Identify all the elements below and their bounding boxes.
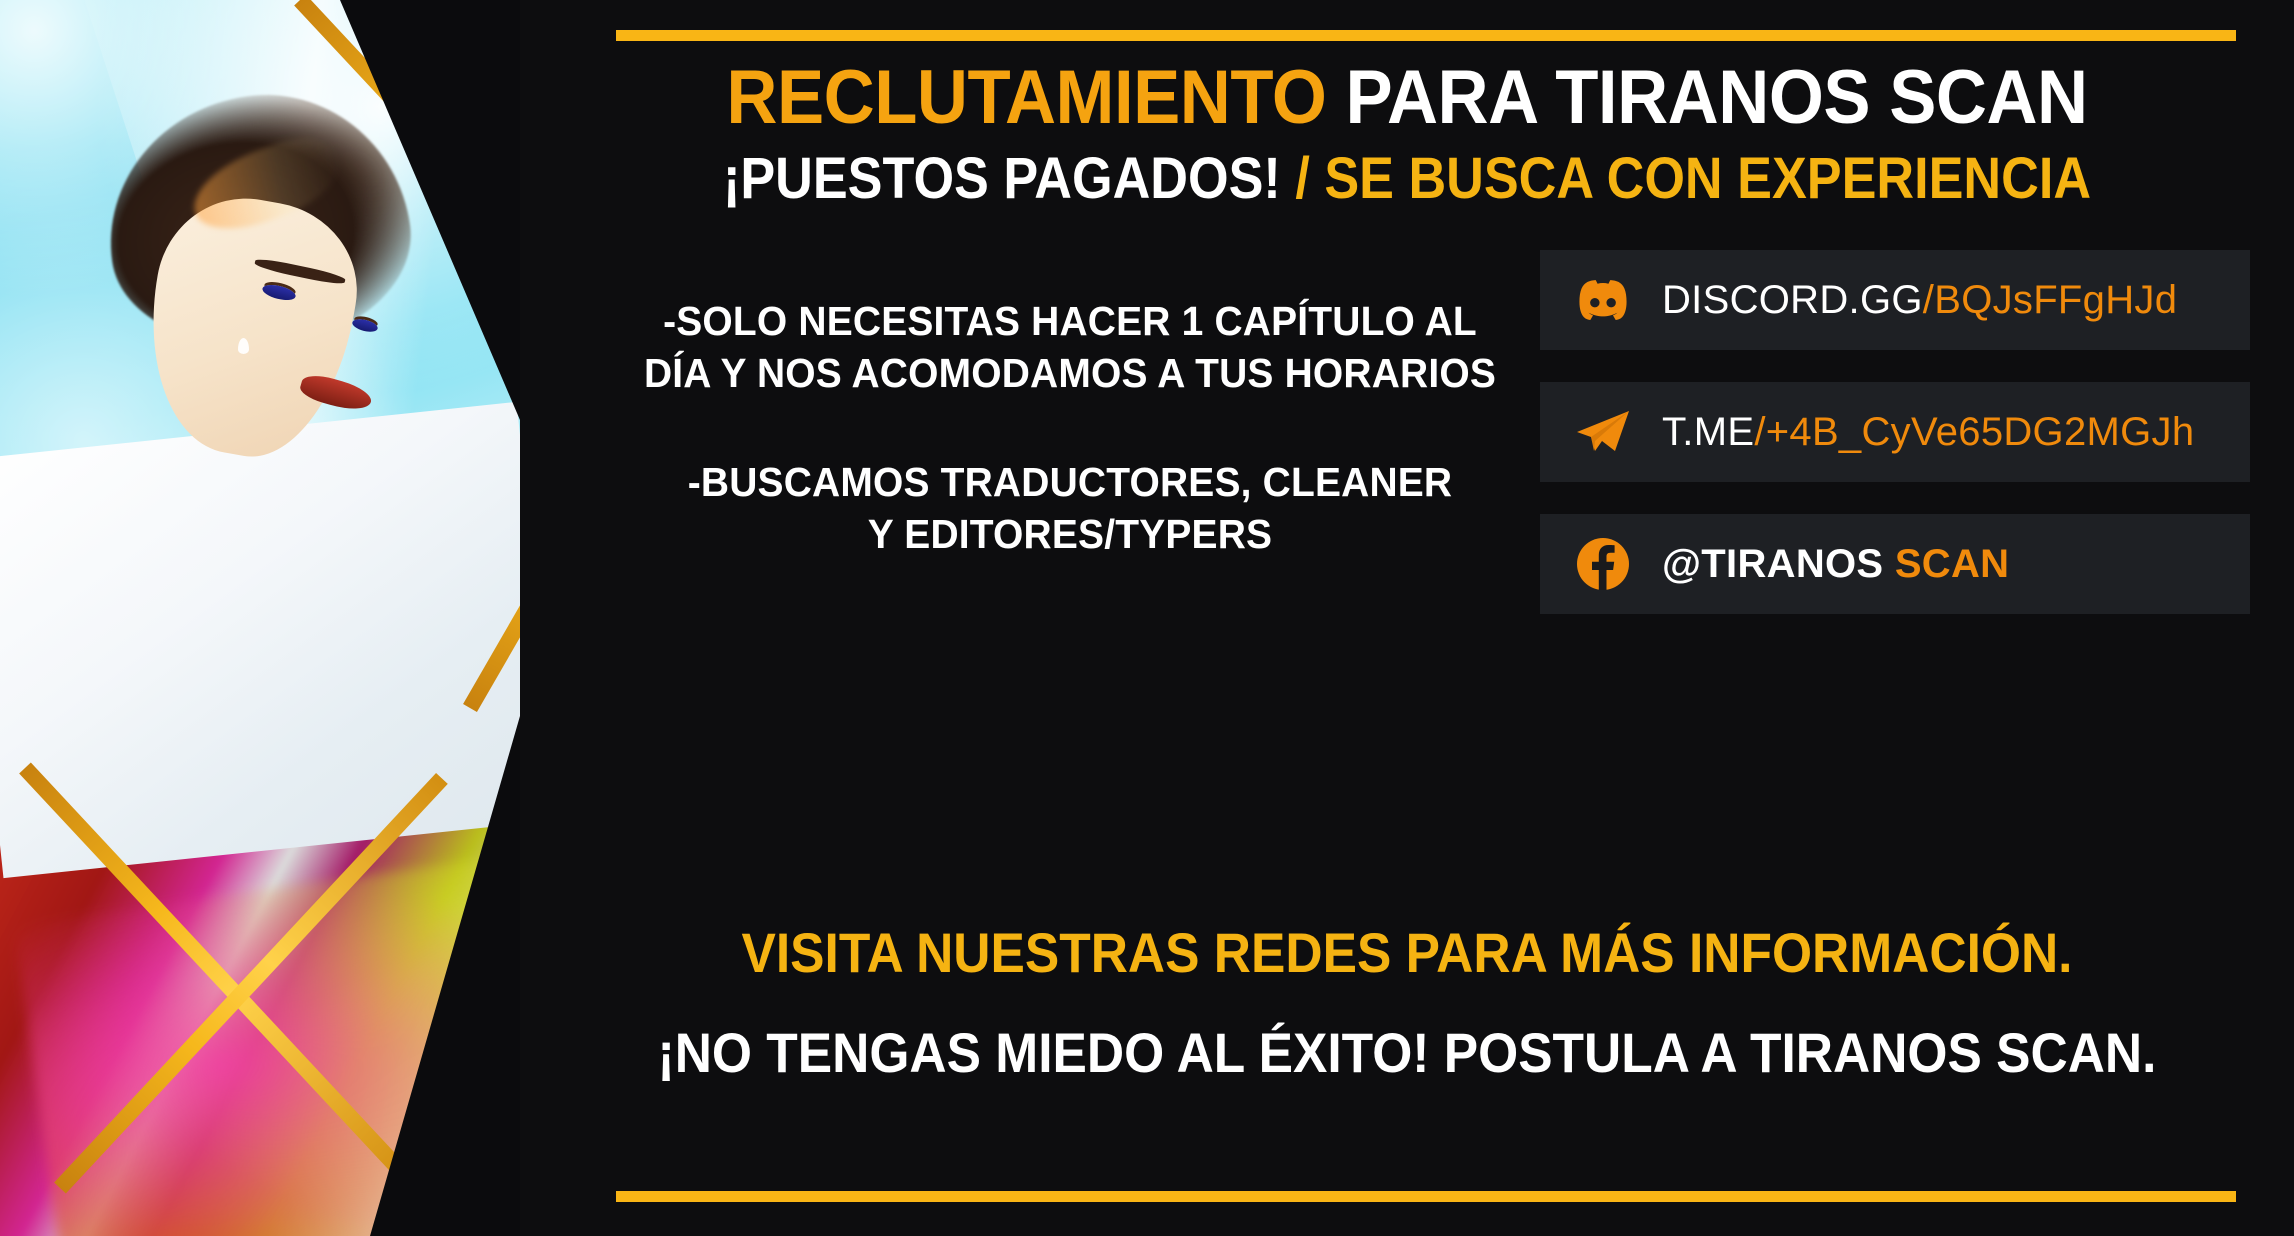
bullet-line: DÍA Y NOS ACOMODAMOS A TUS HORARIOS xyxy=(567,347,1574,399)
list-item: -SOLO NECESITAS HACER 1 CAPÍTULO AL DÍA … xyxy=(567,295,1574,400)
bullet-line: -SOLO NECESITAS HACER 1 CAPÍTULO AL xyxy=(567,295,1574,347)
contact-label: DISCORD.GG/BQJsFFgHJd xyxy=(1662,278,2177,323)
headline-rest: PARA TIRANOS SCAN xyxy=(1326,55,2087,140)
subtitle-experience: / SE BUSCA CON EXPERIENCIA xyxy=(1281,146,2091,211)
artwork-sweat-drop xyxy=(238,338,249,354)
page-title: RECLUTAMIENTO PARA TIRANOS SCAN xyxy=(582,60,2232,136)
artwork-panel xyxy=(0,0,520,1236)
artwork-dark-wedge-top xyxy=(340,0,520,420)
page-subtitle: ¡PUESTOS PAGADOS! / SE BUSCA CON EXPERIE… xyxy=(609,150,2206,208)
discord-domain: DISCORD.GG xyxy=(1662,278,1923,322)
subtitle-paid-positions: ¡PUESTOS PAGADOS! xyxy=(723,146,1281,211)
facebook-handle-suffix: SCAN xyxy=(1883,542,2009,586)
contact-label: T.ME/+4B_CyVe65DG2MGJh xyxy=(1662,410,2194,455)
facebook-icon xyxy=(1574,535,1632,593)
cta-line-primary: VISITA NUESTRAS REDES PARA MÁS INFORMACI… xyxy=(591,920,2223,985)
contact-card-telegram[interactable]: T.ME/+4B_CyVe65DG2MGJh xyxy=(1540,382,2250,482)
contact-card-discord[interactable]: DISCORD.GG/BQJsFFgHJd xyxy=(1540,250,2250,350)
telegram-invite-code: /+4B_CyVe65DG2MGJh xyxy=(1754,410,2194,454)
contact-card-facebook[interactable]: @TIRANOS SCAN xyxy=(1540,514,2250,614)
contact-label: @TIRANOS SCAN xyxy=(1662,542,2009,587)
contact-list: DISCORD.GG/BQJsFFgHJd T.ME/+4B_CyVe65DG2… xyxy=(1540,250,2250,646)
telegram-domain: T.ME xyxy=(1662,410,1754,454)
top-divider-rule xyxy=(616,30,2236,41)
discord-invite-code: /BQJsFFgHJd xyxy=(1923,278,2177,322)
cta-line-secondary: ¡NO TENGAS MIEDO AL ÉXITO! POSTULA A TIR… xyxy=(591,1020,2223,1085)
bullet-line: Y EDITORES/TYPERS xyxy=(567,508,1574,560)
headline-highlight: RECLUTAMIENTO xyxy=(726,55,1326,140)
bottom-divider-rule xyxy=(616,1191,2236,1202)
bullet-line: -BUSCAMOS TRADUCTORES, CLEANER xyxy=(567,456,1574,508)
telegram-icon xyxy=(1574,403,1632,461)
recruitment-banner: RECLUTAMIENTO PARA TIRANOS SCAN ¡PUESTOS… xyxy=(0,0,2294,1236)
content-panel: RECLUTAMIENTO PARA TIRANOS SCAN ¡PUESTOS… xyxy=(520,0,2294,1236)
discord-icon xyxy=(1574,271,1632,329)
facebook-handle: @TIRANOS xyxy=(1662,542,1883,586)
artwork-dark-wedge-bottom xyxy=(370,716,520,1236)
list-item: -BUSCAMOS TRADUCTORES, CLEANER Y EDITORE… xyxy=(567,456,1574,561)
requirements-list: -SOLO NECESITAS HACER 1 CAPÍTULO AL DÍA … xyxy=(540,295,1600,617)
